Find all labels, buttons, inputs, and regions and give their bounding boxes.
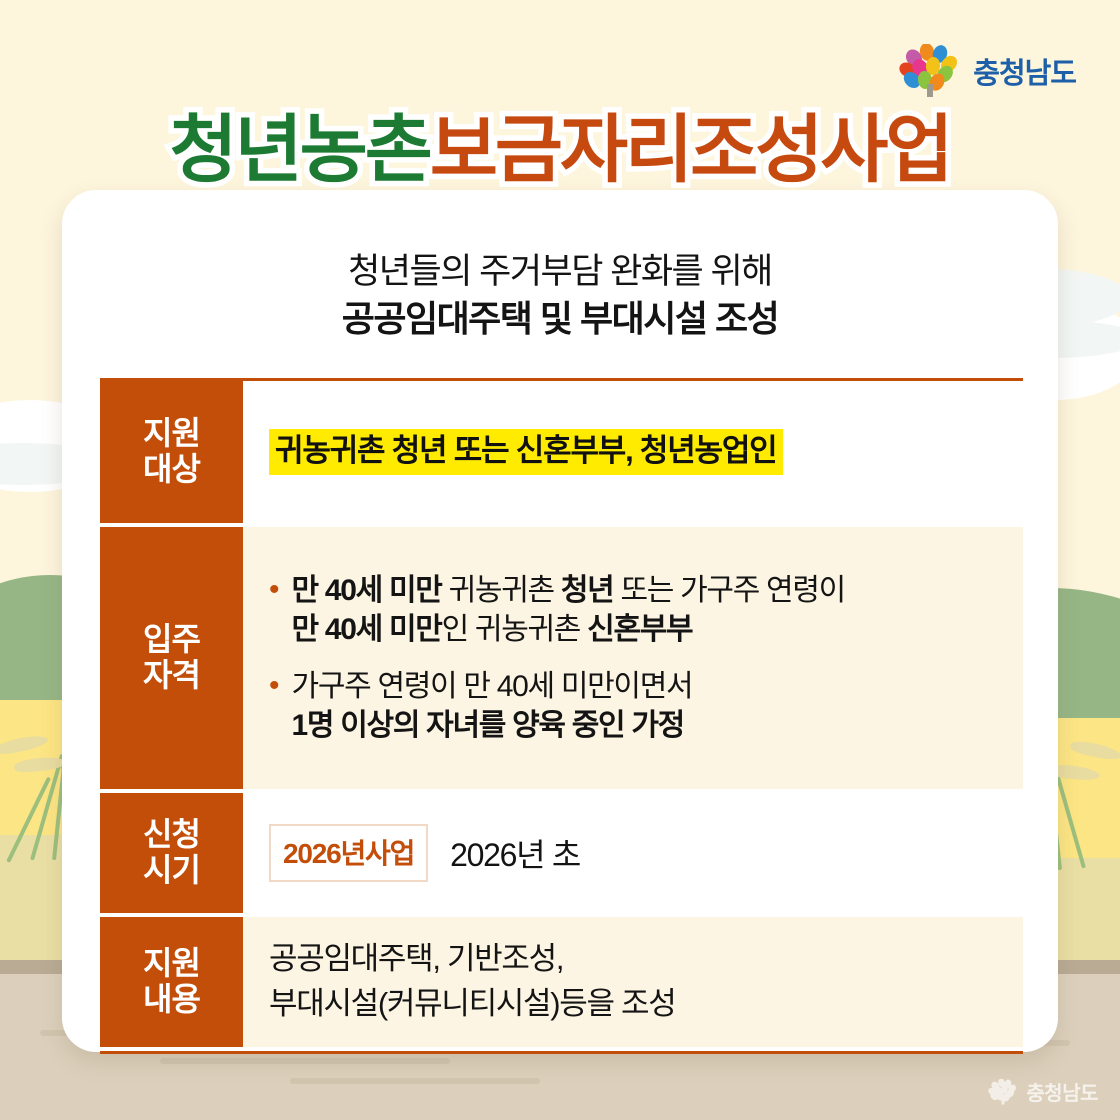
footer-watermark-text: 충청남도 (1026, 1077, 1098, 1106)
table-row-eligibility: 입주 자격 • 만 40세 미만 귀농귀촌 청년 또는 가구주 연령이 만 40… (100, 527, 1023, 789)
table-bottom-rule (100, 1051, 1023, 1054)
ground-texture-line (160, 1058, 450, 1064)
row-label-eligibility: 입주 자격 (100, 527, 243, 789)
row-content-eligibility: • 만 40세 미만 귀농귀촌 청년 또는 가구주 연령이 만 40세 미만인 … (243, 527, 1023, 789)
title-part-1: 청년농촌 (170, 108, 430, 191)
support-content-text: 공공임대주택, 기반조성, 부대시설(커뮤니티시설)등을 조성 (269, 937, 1023, 1027)
bullet-1-line2-a: 만 40세 미만 (292, 613, 442, 646)
bullet-dot-icon: • (269, 669, 280, 704)
row-content-application-period: 2026년사업 2026년 초 (243, 793, 1023, 913)
bullet-1-line1-b: 귀농귀촌 (442, 574, 561, 607)
bullet-1-line2-b: 인 귀농귀촌 (442, 613, 588, 646)
row-content-support-content: 공공임대주택, 기반조성, 부대시설(커뮤니티시설)등을 조성 (243, 917, 1023, 1047)
row-label-line-1: 신청 (143, 817, 200, 853)
page-title: 청년농촌보금자리조성사업 (0, 113, 1120, 187)
bullet-list: • 만 40세 미만 귀농귀촌 청년 또는 가구주 연령이 만 40세 미만인 … (269, 571, 1023, 745)
subtitle-line-1: 청년들의 주거부담 완화를 위해 (0, 248, 1120, 295)
row-label-line-1: 지원 (143, 946, 200, 982)
row-label-line-2: 내용 (143, 982, 200, 1018)
bullet-text: 가구주 연령이 만 40세 미만이면서 1명 이상의 자녀를 양육 중인 가정 (292, 667, 693, 745)
subtitle-line-2: 공공임대주택 및 부대시설 조성 (0, 295, 1120, 344)
row-label-support-content: 지원 내용 (100, 917, 243, 1047)
row-label-support-target: 지원 대상 (100, 381, 243, 523)
bullet-dot-icon: • (269, 573, 280, 608)
footer-watermark: 충청남도 (988, 1077, 1098, 1106)
ground-texture-line (290, 1078, 540, 1084)
bullet-1-line1-d: 또는 가구주 연령이 (613, 574, 845, 607)
subtitle: 청년들의 주거부담 완화를 위해 공공임대주택 및 부대시설 조성 (0, 248, 1120, 344)
bullet-text: 만 40세 미만 귀농귀촌 청년 또는 가구주 연령이 만 40세 미만인 귀농… (292, 571, 845, 649)
bullet-1-line2-c: 신혼부부 (587, 613, 692, 646)
list-item: • 가구주 연령이 만 40세 미만이면서 1명 이상의 자녀를 양육 중인 가… (269, 667, 1023, 745)
bullet-2-line1: 가구주 연령이 만 40세 미만이면서 (292, 670, 693, 703)
row-label-line-2: 자격 (143, 658, 200, 694)
highlighted-text: 귀농귀촌 청년 또는 신혼부부, 청년농업인 (269, 429, 783, 475)
infographic-canvas: 충청남도 청년농촌보금자리조성사업 청년들의 주거부담 완화를 위해 공공임대주… (0, 0, 1120, 1120)
header-logo: 충청남도 (899, 44, 1076, 98)
support-content-line-2: 부대시설(커뮤니티시설)등을 조성 (269, 982, 1023, 1027)
chungnam-flower-tree-icon (899, 44, 961, 98)
chungnam-flower-tree-icon (988, 1079, 1018, 1105)
row-label-line-1: 입주 (143, 622, 200, 658)
application-period-value: 2026년 초 (450, 830, 580, 876)
support-content-line-1: 공공임대주택, 기반조성, (269, 937, 1023, 982)
header-org-name: 충청남도 (973, 50, 1076, 92)
list-item: • 만 40세 미만 귀농귀촌 청년 또는 가구주 연령이 만 40세 미만인 … (269, 571, 1023, 649)
table-row-support-target: 지원 대상 귀농귀촌 청년 또는 신혼부부, 청년농업인 (100, 381, 1023, 523)
row-content-support-target: 귀농귀촌 청년 또는 신혼부부, 청년농업인 (243, 381, 1023, 523)
year-badge: 2026년사업 (269, 824, 428, 882)
row-label-line-1: 지원 (143, 416, 200, 452)
row-label-line-2: 대상 (143, 452, 200, 488)
row-label-application-period: 신청 시기 (100, 793, 243, 913)
bullet-1-line1-a: 만 40세 미만 (292, 574, 442, 607)
table-row-application-period: 신청 시기 2026년사업 2026년 초 (100, 793, 1023, 913)
application-period-group: 2026년사업 2026년 초 (269, 824, 1023, 882)
title-part-2: 보금자리조성사업 (430, 108, 951, 191)
row-label-line-2: 시기 (143, 853, 200, 889)
table-row-support-content: 지원 내용 공공임대주택, 기반조성, 부대시설(커뮤니티시설)등을 조성 (100, 917, 1023, 1047)
bullet-1-line1-c: 청년 (561, 574, 614, 607)
info-table: 지원 대상 귀농귀촌 청년 또는 신혼부부, 청년농업인 입주 자격 • 만 4… (100, 378, 1023, 1054)
bullet-2-line2: 1명 이상의 자녀를 양육 중인 가정 (292, 709, 684, 742)
